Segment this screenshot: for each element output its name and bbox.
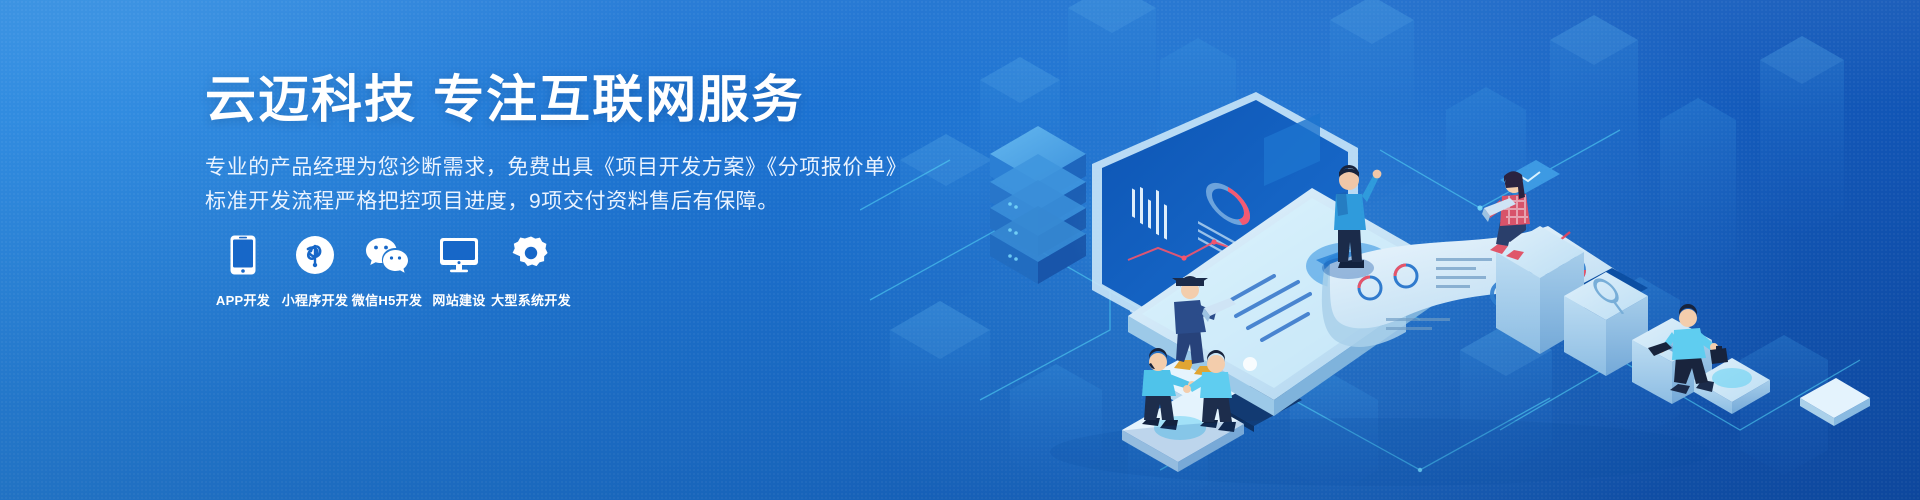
service-item-website[interactable]: 网站建设 [423, 234, 495, 309]
mini-program-icon [294, 234, 336, 276]
server-stack [990, 126, 1086, 284]
banner-copy: 云迈科技 专注互联网服务 专业的产品经理为您诊断需求，免费出具《项目开发方案》《… [205, 70, 925, 219]
banner-subtitle: 专业的产品经理为您诊断需求，免费出具《项目开发方案》《分项报价单》 标准开发流程… [205, 151, 925, 219]
monitor-icon [438, 234, 480, 276]
service-label: 大型系统开发 [491, 290, 571, 309]
service-item-mini-program[interactable]: 小程序开发 [279, 234, 351, 309]
service-label: 小程序开发 [282, 290, 349, 309]
subtitle-line-1: 专业的产品经理为您诊断需求，免费出具《项目开发方案》《分项报价单》 [205, 151, 925, 185]
service-item-wechat-h5[interactable]: 微信H5开发 [351, 234, 423, 309]
service-label: 网站建设 [432, 290, 485, 309]
wechat-icon [366, 234, 408, 276]
service-label: APP开发 [216, 290, 270, 309]
mobile-phone-icon [222, 234, 264, 276]
isometric-tech-team-illustration [860, 0, 1920, 500]
gear-icon [510, 234, 552, 276]
page-title: 云迈科技 专注互联网服务 [205, 70, 925, 130]
service-label: 微信H5开发 [352, 290, 422, 309]
service-icon-row: APP开发 小程序开发 [207, 234, 567, 309]
subtitle-line-2: 标准开发流程严格把控项目进度，9项交付资料售后有保障。 [205, 185, 925, 219]
service-item-large-system[interactable]: 大型系统开发 [495, 234, 567, 309]
promo-banner: 云迈科技 专注互联网服务 专业的产品经理为您诊断需求，免费出具《项目开发方案》《… [0, 0, 1920, 500]
service-item-app[interactable]: APP开发 [207, 234, 279, 309]
